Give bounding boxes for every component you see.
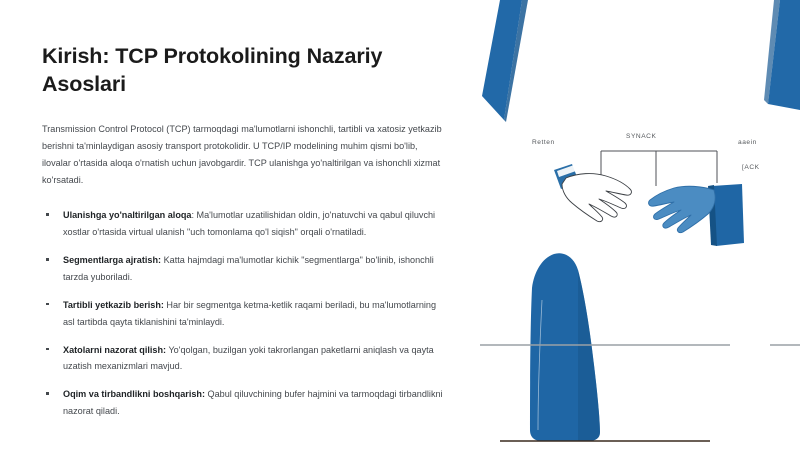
content-column: Kirish: TCP Protokolining Nazariy Asosla…	[0, 0, 480, 450]
bullet-square-icon	[46, 392, 49, 395]
bullet-square-icon	[46, 348, 49, 351]
intro-paragraph: Transmission Control Protocol (TCP) tarm…	[42, 121, 446, 189]
list-item: Segmentlarga ajratish: Katta hajmdagi ma…	[42, 252, 446, 286]
page-title: Kirish: TCP Protokolining Nazariy Asosla…	[42, 42, 417, 99]
handshake-illustration	[480, 0, 800, 450]
list-item: Oqim va tirbandlikni boshqarish: Qabul q…	[42, 386, 446, 420]
list-item-term: Tartibli yetkazib berish:	[63, 300, 164, 310]
bullet-square-icon	[46, 213, 49, 216]
list-item: Tartibli yetkazib berish: Har bir segmen…	[42, 297, 446, 331]
list-item: Ulanishga yo'naltirilgan aloqa: Ma'lumot…	[42, 207, 446, 241]
bullet-square-icon	[46, 258, 49, 261]
list-item-term: Oqim va tirbandlikni boshqarish:	[63, 389, 205, 399]
blue-figure-shape	[530, 253, 600, 441]
label-aaein: aaein	[738, 139, 757, 146]
white-hand-shape	[554, 164, 631, 222]
bullet-square-icon	[46, 303, 49, 306]
label-synack: SYNACK	[626, 133, 656, 140]
label-retten: Retten	[532, 139, 555, 146]
illustration-panel: Retten SYNACK aaein [ACK	[480, 0, 800, 450]
label-ack: [ACK	[742, 164, 760, 171]
list-item: Xatolarni nazorat qilish: Yo'qolgan, buz…	[42, 342, 446, 376]
list-item-term: Xatolarni nazorat qilish:	[63, 345, 166, 355]
list-item-term: Ulanishga yo'naltirilgan aloqa	[63, 210, 192, 220]
feature-list: Ulanishga yo'naltirilgan aloqa: Ma'lumot…	[42, 207, 446, 420]
list-item-term: Segmentlarga ajratish:	[63, 255, 161, 265]
blue-hand-shape	[649, 184, 744, 246]
slide-root: Kirish: TCP Protokolining Nazariy Asosla…	[0, 0, 800, 450]
